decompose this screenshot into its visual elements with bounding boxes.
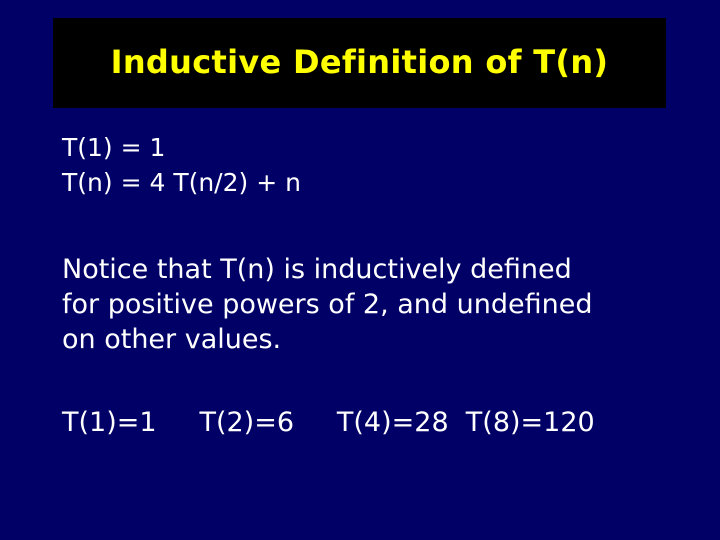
slide-canvas: Inductive Definition of T(n) T(1) = 1 T(… [0, 0, 720, 540]
note-line-2: for positive powers of 2, and undefined [62, 287, 662, 322]
definition-recurrence: T(n) = 4 T(n/2) + n [62, 165, 662, 200]
title-banner: Inductive Definition of T(n) [53, 18, 666, 108]
spacer-after-note [62, 357, 662, 405]
slide-body: T(1) = 1 T(n) = 4 T(n/2) + n Notice that… [62, 130, 662, 440]
note-paragraph: Notice that T(n) is inductively defined … [62, 252, 662, 357]
page-title: Inductive Definition of T(n) [111, 45, 609, 80]
note-line-3: on other values. [62, 322, 662, 357]
computed-values-line: T(1)=1 T(2)=6 T(4)=28 T(8)=120 [62, 405, 662, 440]
spacer-after-definition [62, 200, 662, 252]
definition-base-case: T(1) = 1 [62, 130, 662, 165]
note-line-1: Notice that T(n) is inductively defined [62, 252, 662, 287]
